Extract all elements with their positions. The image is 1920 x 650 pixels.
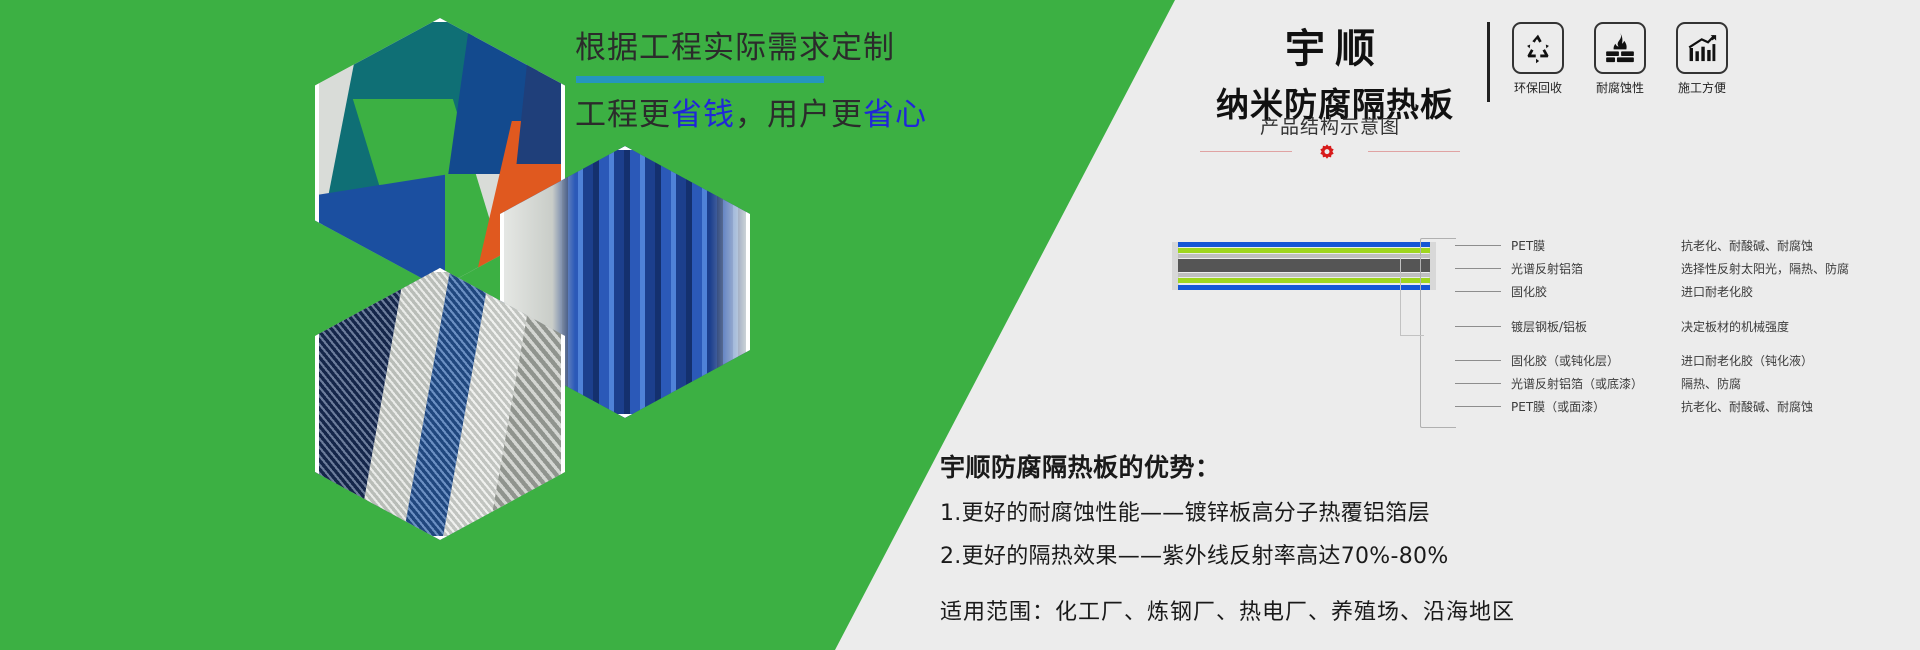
advantage-item: 1.更好的耐腐蚀性能——镀锌板高分子热覆铝箔层	[940, 495, 1900, 527]
layer-name: 光谱反射铝箔（或底漆）	[1511, 375, 1681, 392]
ornament-line-left	[1200, 151, 1292, 152]
layer-spec-row: PET膜 抗老化、耐酸碱、耐腐蚀	[1455, 234, 1885, 257]
slogan-line-2-highlight-a: 省钱	[671, 97, 735, 133]
layer-name: 镀层钢板/铝板	[1511, 318, 1681, 335]
layer-desc: 进口耐老化胶（钝化液）	[1681, 352, 1813, 369]
leader-line	[1455, 245, 1501, 246]
stack-layer-pet-top	[1178, 242, 1430, 247]
stack-layer-pet-bottom	[1178, 285, 1430, 290]
structure-diagram-title: 产品结构示意图	[1170, 112, 1490, 139]
layer-desc: 隔热、防腐	[1681, 375, 1741, 392]
layer-desc: 选择性反射太阳光，隔热、防腐	[1681, 260, 1849, 277]
layer-name: 光谱反射铝箔	[1511, 260, 1681, 277]
growth-chart-icon	[1676, 22, 1728, 74]
layer-name: 固化胶（或钝化层）	[1511, 352, 1681, 369]
layer-name: 固化胶	[1511, 283, 1681, 300]
product-banner: 根据工程实际需求定制 工程更省钱，用户更省心 宇顺 纳米防腐隔热板	[0, 0, 1920, 650]
layer-spec-row: 固化胶 进口耐老化胶	[1455, 280, 1885, 303]
feature-badge-list: 环保回收 耐腐蚀性	[1510, 22, 1730, 96]
layer-name: PET膜	[1511, 237, 1681, 254]
layer-spec-row: 光谱反射铝箔（或底漆） 隔热、防腐	[1455, 372, 1885, 395]
brand-block: 宇顺 纳米防腐隔热板	[1215, 16, 1455, 126]
structure-title-ornament	[1170, 140, 1490, 164]
application-scope: 适用范围：化工厂、炼钢厂、热电厂、养殖场、沿海地区	[940, 594, 1900, 626]
slogan-line-2-part-b: ，用户更	[735, 97, 863, 133]
leader-bracket-inner	[1400, 256, 1424, 336]
stack-layer-glue-top	[1178, 254, 1430, 258]
stack-layer-foil-top	[1178, 248, 1430, 253]
advantages-title: 宇顺防腐隔热板的优势：	[940, 448, 1900, 484]
feature-badge-label: 耐腐蚀性	[1592, 79, 1648, 96]
leader-line	[1455, 268, 1501, 269]
feature-badge-label: 环保回收	[1510, 79, 1566, 96]
stack-layer-foil-bottom	[1178, 278, 1430, 283]
leader-bracket-outer	[1420, 238, 1456, 428]
leader-line	[1455, 406, 1501, 407]
leader-line	[1455, 326, 1501, 327]
corrosion-flame-icon	[1594, 22, 1646, 74]
layer-spec-table: PET膜 抗老化、耐酸碱、耐腐蚀 光谱反射铝箔 选择性反射太阳光，隔热、防腐 固…	[1455, 234, 1885, 418]
layer-spec-row: 光谱反射铝箔 选择性反射太阳光，隔热、防腐	[1455, 257, 1885, 280]
advantage-item: 2.更好的隔热效果——紫外线反射率高达70%-80%	[940, 538, 1900, 570]
layer-spec-row: 固化胶（或钝化层） 进口耐老化胶（钝化液）	[1455, 349, 1885, 372]
layer-spec-row: 镀层钢板/铝板 决定板材的机械强度	[1455, 303, 1885, 349]
leader-line	[1455, 291, 1501, 292]
layer-desc: 抗老化、耐酸碱、耐腐蚀	[1681, 398, 1813, 415]
slogan-line-2-part-a: 工程更	[575, 97, 671, 133]
feature-badge: 耐腐蚀性	[1592, 22, 1648, 96]
layer-desc: 抗老化、耐酸碱、耐腐蚀	[1681, 237, 1813, 254]
slogan-line-2: 工程更省钱，用户更省心	[575, 89, 995, 134]
recycle-icon	[1512, 22, 1564, 74]
gear-icon	[1318, 143, 1336, 161]
layer-stack-diagram	[1178, 242, 1430, 332]
leader-line	[1455, 360, 1501, 361]
feature-badge: 施工方便	[1674, 22, 1730, 96]
feature-badge: 环保回收	[1510, 22, 1566, 96]
feature-badge-label: 施工方便	[1674, 79, 1730, 96]
brand-divider	[1487, 22, 1490, 102]
slogan-line-2-highlight-b: 省心	[863, 97, 927, 133]
ornament-line-right	[1368, 151, 1460, 152]
advantages-block: 宇顺防腐隔热板的优势： 1.更好的耐腐蚀性能——镀锌板高分子热覆铝箔层 2.更好…	[940, 448, 1900, 626]
slogan-underline-rule	[576, 76, 824, 83]
layer-name: PET膜（或面漆）	[1511, 398, 1681, 415]
stack-layer-glue-bottom	[1178, 273, 1430, 277]
layer-spec-row: PET膜（或面漆） 抗老化、耐酸碱、耐腐蚀	[1455, 395, 1885, 418]
leader-line	[1455, 383, 1501, 384]
layer-desc: 进口耐老化胶	[1681, 283, 1753, 300]
layer-desc: 决定板材的机械强度	[1681, 318, 1789, 335]
stack-layer-core	[1178, 259, 1430, 272]
slogan-block: 根据工程实际需求定制 工程更省钱，用户更省心	[575, 22, 995, 134]
brand-name: 宇顺	[1215, 16, 1455, 74]
slogan-line-1: 根据工程实际需求定制	[575, 22, 995, 67]
